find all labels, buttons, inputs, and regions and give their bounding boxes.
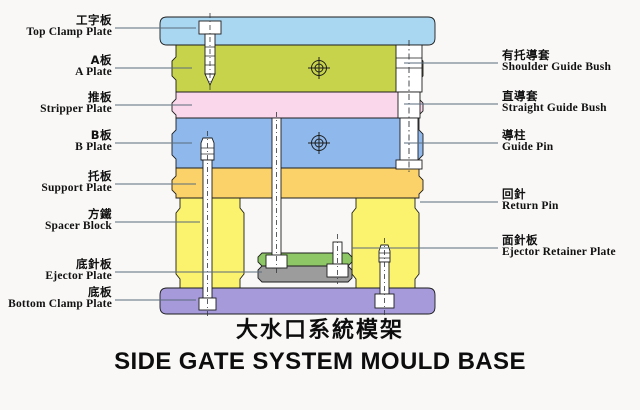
label-bottom-clamp-plate-cn: 底板 — [0, 286, 112, 298]
label-top-clamp-plate: 工字板 Top Clamp Plate — [0, 14, 112, 39]
label-ejector-retainer-plate: 面針板 Ejector Retainer Plate — [502, 234, 616, 259]
label-top-clamp-plate-cn: 工字板 — [0, 14, 112, 26]
label-a-plate-cn: A板 — [0, 54, 112, 66]
plate-stripper-plate — [172, 92, 423, 118]
label-ejector-plate: 底針板 Ejector Plate — [0, 258, 112, 283]
plate-stack — [160, 17, 435, 314]
label-b-plate-en: B Plate — [0, 141, 112, 153]
label-support-plate-cn: 托板 — [0, 170, 112, 182]
label-shoulder-guide-bush: 有托導套 Shoulder Guide Bush — [502, 49, 611, 74]
label-shoulder-guide-bush-en: Shoulder Guide Bush — [502, 61, 611, 73]
label-support-plate-en: Support Plate — [0, 182, 112, 194]
label-top-clamp-plate-en: Top Clamp Plate — [0, 26, 112, 38]
diagram-title: 大水口系統模架 SIDE GATE SYSTEM MOULD BASE — [0, 312, 640, 376]
label-bottom-clamp-plate: 底板 Bottom Clamp Plate — [0, 286, 112, 311]
label-stripper-plate-cn: 推板 — [0, 91, 112, 103]
label-b-plate-cn: B板 — [0, 129, 112, 141]
label-spacer-block: 方鐵 Spacer Block — [0, 208, 112, 233]
label-straight-guide-bush-en: Straight Guide Bush — [502, 102, 607, 114]
label-a-plate-en: A Plate — [0, 66, 112, 78]
label-spacer-block-en: Spacer Block — [0, 220, 112, 232]
label-shoulder-guide-bush-cn: 有托導套 — [502, 49, 611, 61]
label-a-plate: A板 A Plate — [0, 54, 112, 79]
label-stripper-plate-en: Stripper Plate — [0, 103, 112, 115]
label-straight-guide-bush: 直導套 Straight Guide Bush — [502, 90, 607, 115]
guide-pin-assembly — [396, 40, 422, 172]
label-return-pin-en: Return Pin — [502, 200, 559, 212]
label-b-plate: B板 B Plate — [0, 129, 112, 154]
label-ejector-plate-cn: 底針板 — [0, 258, 112, 270]
mould-base-diagram-page: 工字板 Top Clamp Plate A板 A Plate 推板 Stripp… — [0, 0, 640, 410]
label-spacer-block-cn: 方鐵 — [0, 208, 112, 220]
label-return-pin-cn: 回針 — [502, 188, 559, 200]
label-bottom-clamp-plate-en: Bottom Clamp Plate — [0, 298, 112, 310]
label-support-plate: 托板 Support Plate — [0, 170, 112, 195]
label-straight-guide-bush-cn: 直導套 — [502, 90, 607, 102]
label-guide-pin-en: Guide Pin — [502, 141, 553, 153]
diagram-title-cn: 大水口系統模架 — [0, 312, 640, 344]
label-ejector-plate-en: Ejector Plate — [0, 270, 112, 282]
label-stripper-plate: 推板 Stripper Plate — [0, 91, 112, 116]
label-guide-pin-cn: 導柱 — [502, 129, 553, 141]
label-ejector-retainer-plate-cn: 面針板 — [502, 234, 616, 246]
label-guide-pin: 導柱 Guide Pin — [502, 129, 553, 154]
diagram-title-en: SIDE GATE SYSTEM MOULD BASE — [0, 348, 640, 376]
label-return-pin: 回針 Return Pin — [502, 188, 559, 213]
label-ejector-retainer-plate-en: Ejector Retainer Plate — [502, 246, 616, 258]
